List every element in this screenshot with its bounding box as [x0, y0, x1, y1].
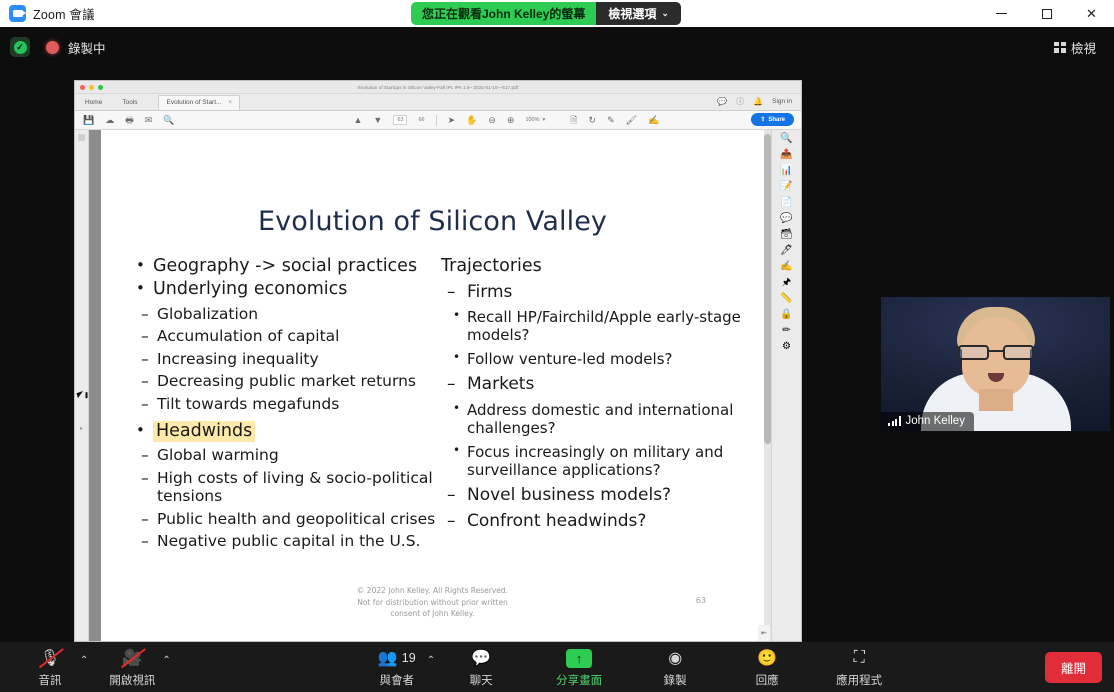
zoom-meeting-window: Zoom 會議 您正在觀看John Kelley的螢幕 檢視選項 ⌄ ✕ ✓ 錄… [0, 0, 1114, 692]
maximize-icon[interactable] [1024, 0, 1069, 27]
video-label: 開啟視訊 [109, 672, 155, 688]
zoom-in-icon[interactable]: ⊕ [507, 116, 515, 125]
minimize-icon[interactable] [979, 0, 1024, 27]
audio-label: 音訊 [39, 672, 62, 688]
chat-label: 聊天 [470, 672, 493, 688]
redact-icon[interactable]: ✏ [782, 326, 790, 336]
zoom-camera-icon [9, 5, 26, 22]
save-icon[interactable]: 💾 [83, 116, 94, 125]
bullet-glyph: – [133, 305, 157, 324]
toolbar-divider [436, 115, 437, 126]
send-for-signature-icon[interactable]: ✍ [780, 262, 792, 272]
bullet-text: Geography -> social practices [153, 256, 417, 277]
bullet-item: – Negative public capital in the U.S. [133, 532, 453, 551]
combine-files-icon[interactable]: 🗃 [780, 230, 793, 240]
page-scroll-container[interactable]: Evolution of Silicon Valley • Geography … [89, 130, 771, 641]
apps-button[interactable]: ⛶ 應用程式 [831, 644, 887, 690]
bullet-item: • Geography -> social practices [133, 256, 453, 277]
bullet-glyph: • [133, 256, 153, 274]
security-shield-icon[interactable]: ✓ [10, 37, 30, 57]
zoom-level-select[interactable]: 100% ▾ [525, 117, 545, 123]
more-tools-icon[interactable]: ⚙ [782, 342, 791, 352]
bullet-glyph: – [133, 532, 157, 551]
bullet-glyph: – [441, 485, 467, 505]
slide-copyright: © 2022 John Kelley. All Rights Reserved.… [101, 585, 764, 619]
stamp-icon[interactable]: 🖈 [782, 278, 791, 288]
bullet-glyph: – [441, 374, 467, 394]
acrobat-tab-strip: Home Tools Evolution of Start... × 💬 ⓘ 🔔… [75, 94, 801, 111]
bullet-item: – Accumulation of capital [133, 327, 453, 346]
chevron-down-icon: ▾ [543, 117, 546, 123]
video-button[interactable]: 🎥 開啟視訊 [104, 644, 160, 690]
copyright-line-3: consent of John Kelley. [101, 608, 764, 619]
bullet-item-headwinds: • Headwinds [133, 421, 453, 442]
bullet-glyph: – [133, 510, 157, 529]
bullet-text: Firms [467, 282, 512, 302]
sign-in-link[interactable]: Sign in [772, 98, 792, 105]
apps-bracket-icon: ⛶ [854, 647, 865, 669]
print-icon[interactable]: 🖶 [125, 116, 134, 125]
share-screen-label: 分享畫面 [556, 672, 602, 688]
view-button-label: 檢視 [1071, 38, 1096, 57]
leave-meeting-button[interactable]: 離開 [1045, 652, 1102, 683]
pdf-page: Evolution of Silicon Valley • Geography … [101, 130, 764, 641]
audio-options-chevron-icon[interactable]: ⌃ [78, 655, 90, 680]
notification-bell-icon[interactable]: 🔔 [753, 97, 763, 106]
page-gutter-left [89, 130, 101, 641]
bullet-glyph: • [441, 401, 467, 415]
create-pdf-icon[interactable]: 📄 [780, 198, 792, 208]
acrobat-toolbar: 💾 ☁ 🖶 ✉ 🔍 ▲ ▼ 63 66 ➤ ✋ ⊖ ⊕ 100% ▾ [75, 111, 801, 130]
bullet-text: Increasing inequality [157, 350, 319, 369]
bullet-glyph: – [441, 511, 467, 531]
sharing-banner: 您正在觀看John Kelley的螢幕 [411, 2, 596, 25]
bullet-item: – Globalization [133, 305, 453, 324]
bullet-text: Globalization [157, 305, 258, 324]
chat-button[interactable]: 💬 聊天 [453, 644, 509, 690]
previous-page-icon[interactable]: ▲ [353, 116, 362, 125]
bullet-text: Markets [467, 374, 534, 394]
page-fit-icon[interactable]: ⇤ [758, 625, 770, 641]
bullet-text: Accumulation of capital [157, 327, 339, 346]
bullet-glyph: – [133, 327, 157, 346]
app-identity: Zoom 會議 [0, 4, 95, 23]
bullet-glyph: • [133, 279, 153, 297]
close-icon[interactable]: × [228, 100, 232, 106]
participants-icon: 👥19 [378, 647, 416, 669]
highlight-icon[interactable]: 🖌 [626, 116, 637, 125]
highlighted-text: Headwinds [153, 421, 255, 442]
bullet-text: Novel business models? [467, 485, 671, 505]
apps-label: 應用程式 [836, 672, 882, 688]
bullet-item: – Novel business models? [441, 485, 764, 505]
video-options-chevron-icon[interactable]: ⌃ [160, 655, 172, 680]
bullet-glyph: – [441, 282, 467, 302]
protect-icon[interactable]: 🔒 [780, 310, 792, 320]
tab-tools[interactable]: Tools [112, 96, 147, 110]
participant-count: 19 [402, 651, 416, 665]
bullet-glyph: – [133, 372, 157, 391]
bullet-glyph: • [441, 443, 467, 457]
view-options-label: 檢視選項 [608, 5, 656, 22]
bullet-item: • Follow venture-led models? [441, 350, 764, 368]
bullet-item: • Recall HP/Fairchild/Apple early-stage … [441, 308, 764, 344]
slide-content: Evolution of Silicon Valley • Geography … [101, 130, 764, 641]
page-number-input[interactable]: 63 [393, 115, 407, 125]
search-tool-icon[interactable]: 🔍 [780, 134, 792, 144]
participants-button[interactable]: 👥19 與會者 [369, 644, 425, 690]
participant-name: John Kelley [906, 415, 965, 427]
bullet-text: Address domestic and international chall… [467, 401, 764, 437]
meeting-control-bar: 🎙 音訊 ⌃ 🎥 開啟視訊 ⌃ 👥19 與會者 ⌃ 💬 聊天 ↑ 分享畫面 [0, 642, 1114, 692]
bullet-glyph: • [441, 308, 467, 322]
grid-view-icon [1054, 42, 1066, 53]
select-tool-icon[interactable]: ➤ [448, 116, 456, 125]
next-page-icon[interactable]: ▼ [373, 116, 382, 125]
share-button-label: Share [768, 117, 785, 123]
fill-sign-icon[interactable]: 🖊 [780, 246, 793, 256]
bullet-glyph: • [441, 350, 467, 364]
chevron-down-icon: ⌄ [661, 8, 669, 19]
video-off-icon: 🎥 [122, 647, 142, 669]
signature-icon[interactable]: ✍ [648, 116, 659, 125]
rail-marker-icon: ▸ [80, 425, 83, 432]
record-label: 錄製 [664, 672, 687, 688]
shield-check-glyph: ✓ [14, 41, 27, 54]
hand-tool-icon[interactable]: ✋ [466, 116, 477, 125]
screen-share-status: 您正在觀看John Kelley的螢幕 檢視選項 ⌄ [411, 2, 681, 25]
acrobat-left-rail[interactable]: ▸ [75, 130, 89, 641]
bullet-text: Underlying economics [153, 279, 347, 300]
acrobat-right-tool-rail: 🔍 📤 📊 📝 📄 💬 🗃 🖊 ✍ 🖈 📏 🔒 ✏ ⚙ [771, 130, 801, 641]
bullet-text: Global warming [157, 446, 279, 465]
bullet-glyph: – [133, 350, 157, 369]
comment-icon[interactable]: 💬 [780, 214, 792, 224]
view-layout-button[interactable]: 檢視 [1046, 35, 1104, 59]
chat-bubble-icon: 💬 [471, 647, 491, 669]
tab-home[interactable]: Home [75, 96, 112, 110]
bullet-glyph: – [133, 446, 157, 465]
slide-page-number: 63 [696, 596, 706, 605]
acrobat-tab-right-tools: 💬 ⓘ 🔔 Sign in [717, 96, 801, 110]
microphone-muted-icon: 🎙 [40, 647, 60, 669]
window-controls: ✕ [979, 0, 1114, 27]
shared-screen-region[interactable]: Evolution of Startups in Silicon Valley-… [74, 80, 802, 642]
vertical-scrollbar[interactable] [764, 130, 771, 641]
participant-video-thumbnail[interactable]: John Kelley [881, 297, 1110, 431]
share-upload-icon: ⇧ [760, 116, 765, 123]
recording-status-label: 錄製中 [68, 38, 106, 57]
smiley-reaction-icon: 🙂 [757, 647, 777, 669]
participants-chevron-icon[interactable]: ⌃ [425, 655, 437, 680]
bullet-text: Confront headwinds? [467, 511, 646, 531]
bullet-glyph: • [133, 421, 153, 439]
bullet-glyph: – [133, 395, 157, 414]
acrobat-share-button[interactable]: ⇧ Share [751, 113, 794, 126]
slide-right-column: Trajectories – Firms • Recall HP/Fairchi… [441, 256, 764, 532]
slide-left-column: • Geography -> social practices • Underl… [133, 256, 453, 551]
rotate-icon[interactable]: ↻ [589, 116, 597, 125]
zoom-level-value: 100% [525, 117, 539, 123]
page-display-icon[interactable]: 🗎 [570, 116, 577, 125]
participants-label: 與會者 [380, 672, 415, 688]
bullet-item: – Decreasing public market returns [133, 372, 453, 391]
record-circle-icon: ◉ [668, 647, 682, 669]
copyright-line-2: Not for distribution without prior writt… [101, 597, 764, 608]
bullet-item: – Public health and geopolitical crises [133, 510, 453, 529]
zoom-out-icon[interactable]: ⊖ [488, 116, 496, 125]
bullet-text: Focus increasingly on military and surve… [467, 443, 764, 479]
upload-cloud-icon[interactable]: ☁ [105, 116, 114, 125]
reactions-label: 回應 [756, 672, 779, 688]
measure-icon[interactable]: 📏 [780, 294, 792, 304]
tab-document[interactable]: Evolution of Start... × [158, 95, 240, 110]
bullet-item: – Tilt towards megafunds [133, 395, 453, 414]
tab-document-label: Evolution of Start... [167, 99, 222, 106]
bullet-text: Tilt towards megafunds [157, 395, 339, 414]
help-icon[interactable]: ⓘ [736, 96, 744, 107]
share-screen-button[interactable]: ↑ 分享畫面 [551, 644, 607, 690]
comment-icon[interactable]: 💬 [717, 97, 727, 106]
bullet-text: Negative public capital in the U.S. [157, 532, 421, 551]
slide-title: Evolution of Silicon Valley [101, 206, 764, 237]
record-button[interactable]: ◉ 錄製 [647, 644, 703, 690]
bullet-glyph: – [133, 469, 157, 488]
acrobat-document-area: ▸ Evolution of Silicon Valley • Geograph… [75, 130, 801, 641]
scrollbar-thumb[interactable] [764, 134, 771, 444]
reactions-button[interactable]: 🙂 回應 [739, 644, 795, 690]
view-options-button[interactable]: 檢視選項 ⌄ [596, 2, 681, 25]
email-icon[interactable]: ✉ [145, 116, 153, 125]
audio-level-bars-icon [888, 416, 901, 426]
glasses-icon [958, 345, 1034, 360]
share-screen-up-arrow-icon: ↑ [566, 647, 592, 669]
organize-pages-icon[interactable]: 📊 [780, 166, 792, 176]
close-icon[interactable]: ✕ [1069, 0, 1114, 27]
audio-button[interactable]: 🎙 音訊 [22, 644, 78, 690]
recording-dot-icon [46, 41, 59, 54]
right-column-title: Trajectories [441, 256, 764, 276]
search-icon[interactable]: 🔍 [163, 116, 174, 125]
bullet-item: • Address domestic and international cha… [441, 401, 764, 437]
bullet-text: Recall HP/Fairchild/Apple early-stage mo… [467, 308, 764, 344]
bullet-text: Decreasing public market returns [157, 372, 416, 391]
bullet-item: – Increasing inequality [133, 350, 453, 369]
bullet-text: Public health and geopolitical crises [157, 510, 435, 529]
bullet-text: Follow venture-led models? [467, 350, 672, 368]
document-window-title: Evolution of Startups in Silicon Valley-… [75, 85, 801, 90]
bullet-item: • Focus increasingly on military and sur… [441, 443, 764, 479]
export-pdf-icon[interactable]: 📤 [780, 150, 792, 160]
window-title-bar: Zoom 會議 您正在觀看John Kelley的螢幕 檢視選項 ⌄ ✕ [0, 0, 1114, 27]
mac-window-titlebar: Evolution of Startups in Silicon Valley-… [75, 81, 801, 94]
bullet-item: • Underlying economics [133, 279, 453, 300]
bullet-item: – High costs of living & socio-political… [133, 469, 453, 506]
copyright-line-1: © 2022 John Kelley. All Rights Reserved. [101, 585, 764, 596]
page-total-label: 66 [418, 117, 424, 123]
bullet-item: – Markets [441, 374, 764, 394]
bullet-item: – Confront headwinds? [441, 511, 764, 531]
meeting-status-bar: ✓ 錄製中 檢視 [0, 27, 1114, 67]
bullet-item: – Firms [441, 282, 764, 302]
app-title: Zoom 會議 [33, 4, 95, 23]
participant-name-badge: John Kelley [881, 412, 974, 431]
participant-neck-skin [979, 389, 1013, 411]
page-thumbnail-icon[interactable] [78, 134, 85, 141]
mouse-cursor-icon [76, 391, 84, 398]
bullet-text: High costs of living & socio-political t… [157, 469, 453, 506]
bullet-item: – Global warming [133, 446, 453, 465]
edit-pdf-icon[interactable]: 📝 [780, 182, 792, 192]
text-comment-icon[interactable]: ✎ [607, 116, 615, 125]
